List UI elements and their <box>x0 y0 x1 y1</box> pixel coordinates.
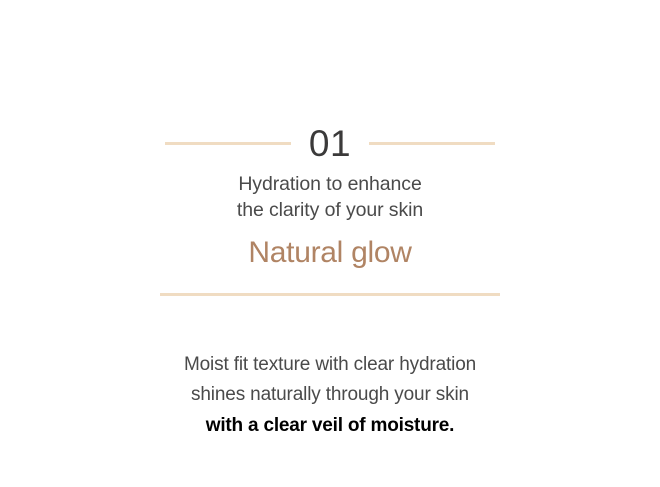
divider-rule-left <box>165 142 291 145</box>
promo-slide: 01 Hydration to enhance the clarity of y… <box>0 0 660 487</box>
subtitle: Hydration to enhance the clarity of your… <box>160 172 500 224</box>
subtitle-line-1: Hydration to enhance <box>160 172 500 198</box>
step-number: 01 <box>309 125 351 162</box>
headline: Natural glow <box>160 235 500 271</box>
divider-rule-right <box>369 142 495 145</box>
body-copy: Moist fit texture with clear hydration s… <box>145 350 515 441</box>
content-block: 01 Hydration to enhance the clarity of y… <box>160 0 500 487</box>
body-line-1: Moist fit texture with clear hydration <box>145 350 515 380</box>
subtitle-line-2: the clarity of your skin <box>160 198 500 224</box>
step-header: 01 <box>160 122 500 164</box>
divider-rule-full <box>160 293 500 296</box>
body-line-2: shines naturally through your skin <box>145 380 515 410</box>
body-line-3-emphasis: with a clear veil of moisture. <box>145 411 515 441</box>
